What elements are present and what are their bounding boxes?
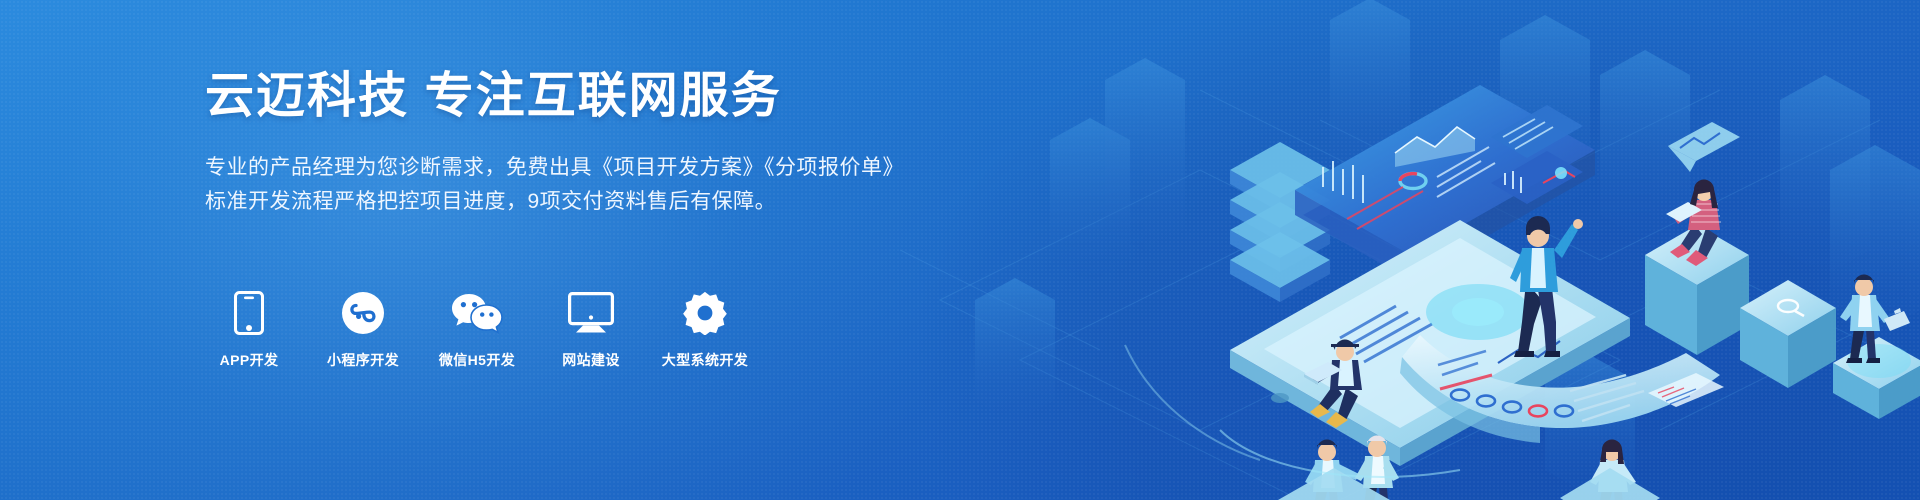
service-list: APP开发 小程序开发 [205, 290, 749, 370]
banner-subtitle: 专业的产品经理为您诊断需求，免费出具《项目开发方案》《分项报价单》 标准开发流程… [205, 151, 925, 219]
service-label: APP开发 [220, 350, 279, 370]
isometric-illustration [900, 0, 1920, 500]
service-item-app[interactable]: APP开发 [205, 290, 293, 370]
desktop-monitor-icon [568, 290, 614, 336]
service-item-mini-program[interactable]: 小程序开发 [319, 290, 407, 370]
service-item-wechat-h5[interactable]: 微信H5开发 [433, 290, 521, 370]
gear-icon [683, 290, 727, 336]
wechat-icon [451, 290, 503, 336]
service-label: 微信H5开发 [439, 350, 515, 370]
mini-program-icon [341, 290, 385, 336]
page-title: 云迈科技 专注互联网服务 [205, 68, 925, 126]
banner-text-block: 云迈科技 专注互联网服务 专业的产品经理为您诊断需求，免费出具《项目开发方案》《… [205, 68, 925, 219]
service-label: 小程序开发 [327, 350, 399, 370]
service-item-website[interactable]: 网站建设 [547, 290, 635, 370]
subtitle-line-1: 专业的产品经理为您诊断需求，免费出具《项目开发方案》《分项报价单》 [205, 151, 925, 185]
mobile-phone-icon [234, 290, 264, 336]
hero-banner: 云迈科技 专注互联网服务 专业的产品经理为您诊断需求，免费出具《项目开发方案》《… [0, 0, 1920, 500]
background-glow-bottom-right [920, 0, 1920, 500]
service-label: 大型系统开发 [662, 350, 748, 370]
subtitle-line-2: 标准开发流程严格把控项目进度，9项交付资料售后有保障。 [205, 185, 925, 219]
service-label: 网站建设 [562, 350, 620, 370]
service-item-large-system[interactable]: 大型系统开发 [661, 290, 749, 370]
